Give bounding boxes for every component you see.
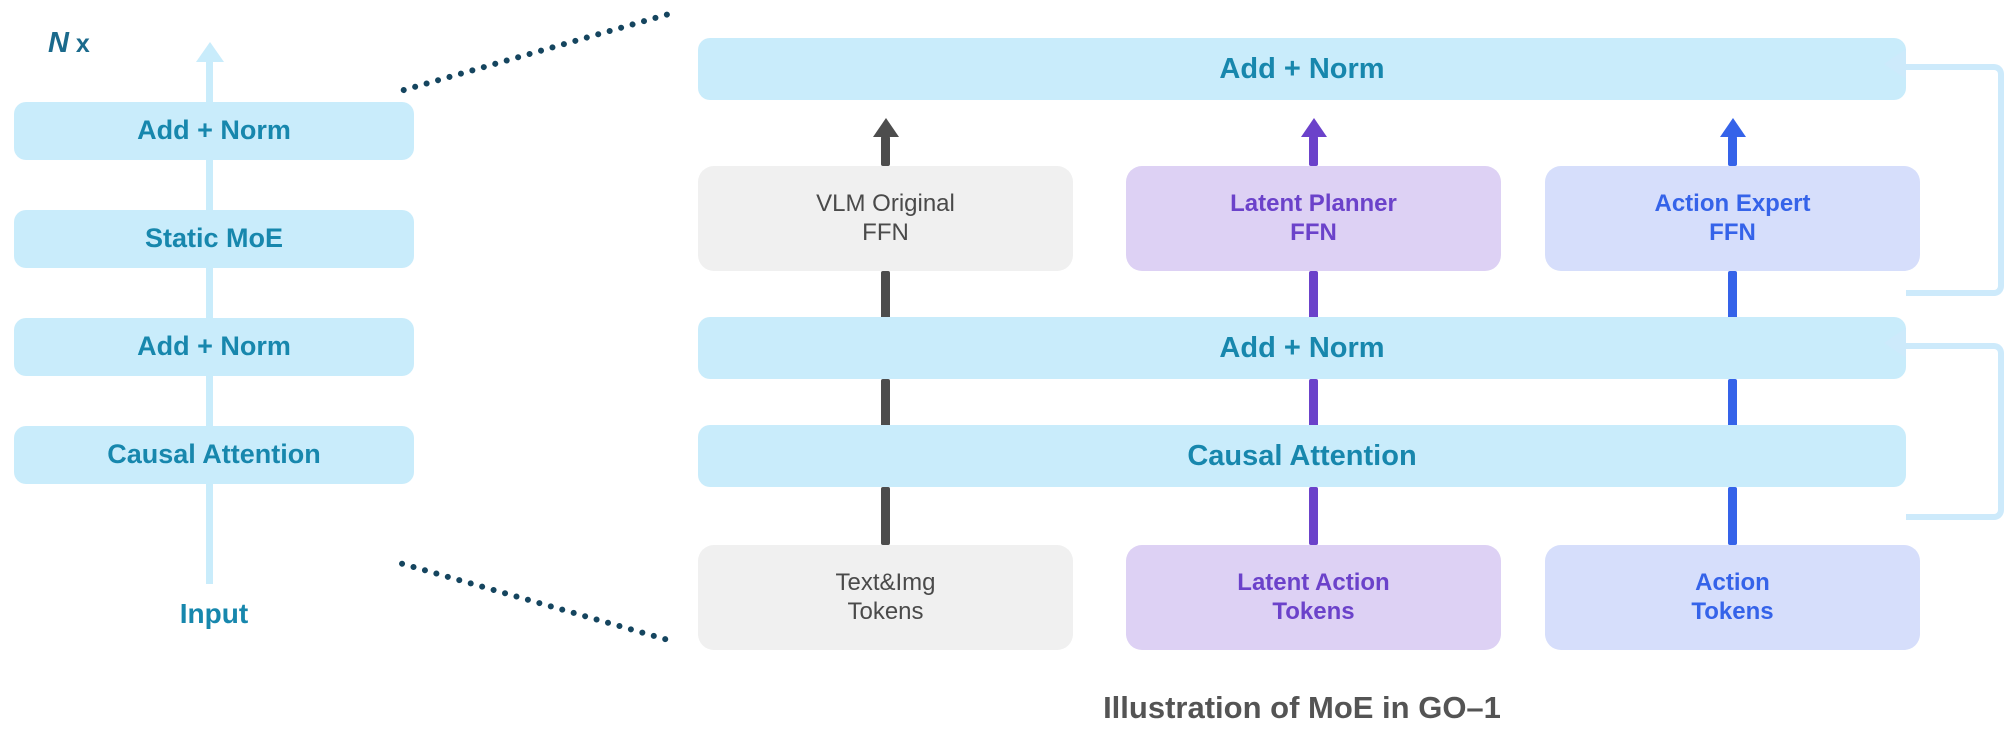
ffn-box-latent-planner: Latent Planner FFN: [1126, 166, 1501, 271]
right-row-add-norm-mid: Add + Norm: [698, 317, 1906, 379]
residual-arrowhead-lower: [1884, 328, 1906, 358]
token-box-action: Action Tokens: [1545, 545, 1920, 650]
token-box-latent-action: Latent Action Tokens: [1126, 545, 1501, 650]
residual-connection-lower: [1906, 343, 2004, 520]
right-row-add-norm-top: Add + Norm: [698, 38, 1906, 100]
ffn-box-action-expert: Action Expert FFN: [1545, 166, 1920, 271]
residual-arrowhead-upper: [1884, 49, 1906, 79]
right-panel-moe-detail: Add + Norm VLM Original FFN Latent Plann…: [0, 0, 2014, 700]
residual-connection-upper: [1906, 64, 2004, 296]
arrowhead-vlm-ffn-to-addnorm: [873, 118, 899, 137]
ffn-box-vlm-original: VLM Original FFN: [698, 166, 1073, 271]
arrowhead-action-ffn-to-addnorm: [1720, 118, 1746, 137]
connector-latent-tokens-up: [1309, 487, 1318, 545]
connector-latent-midrow-down: [1309, 379, 1318, 429]
connector-latent-ffn-up: [1309, 136, 1318, 166]
figure-caption: Illustration of MoE in GO–1: [698, 690, 1906, 726]
connector-action-tokens-up: [1728, 487, 1737, 545]
connector-vlm-ffn-up: [881, 136, 890, 166]
token-box-text-img: Text&Img Tokens: [698, 545, 1073, 650]
connector-action-midrow-down: [1728, 379, 1737, 429]
right-row-causal-attention: Causal Attention: [698, 425, 1906, 487]
connector-vlm-tokens-up: [881, 487, 890, 545]
connector-vlm-midrow-down: [881, 379, 890, 429]
figure-canvas: N x Add + Norm Static MoE Add + Norm Cau…: [0, 0, 2014, 748]
connector-action-ffn-up: [1728, 136, 1737, 166]
arrowhead-latent-ffn-to-addnorm: [1301, 118, 1327, 137]
